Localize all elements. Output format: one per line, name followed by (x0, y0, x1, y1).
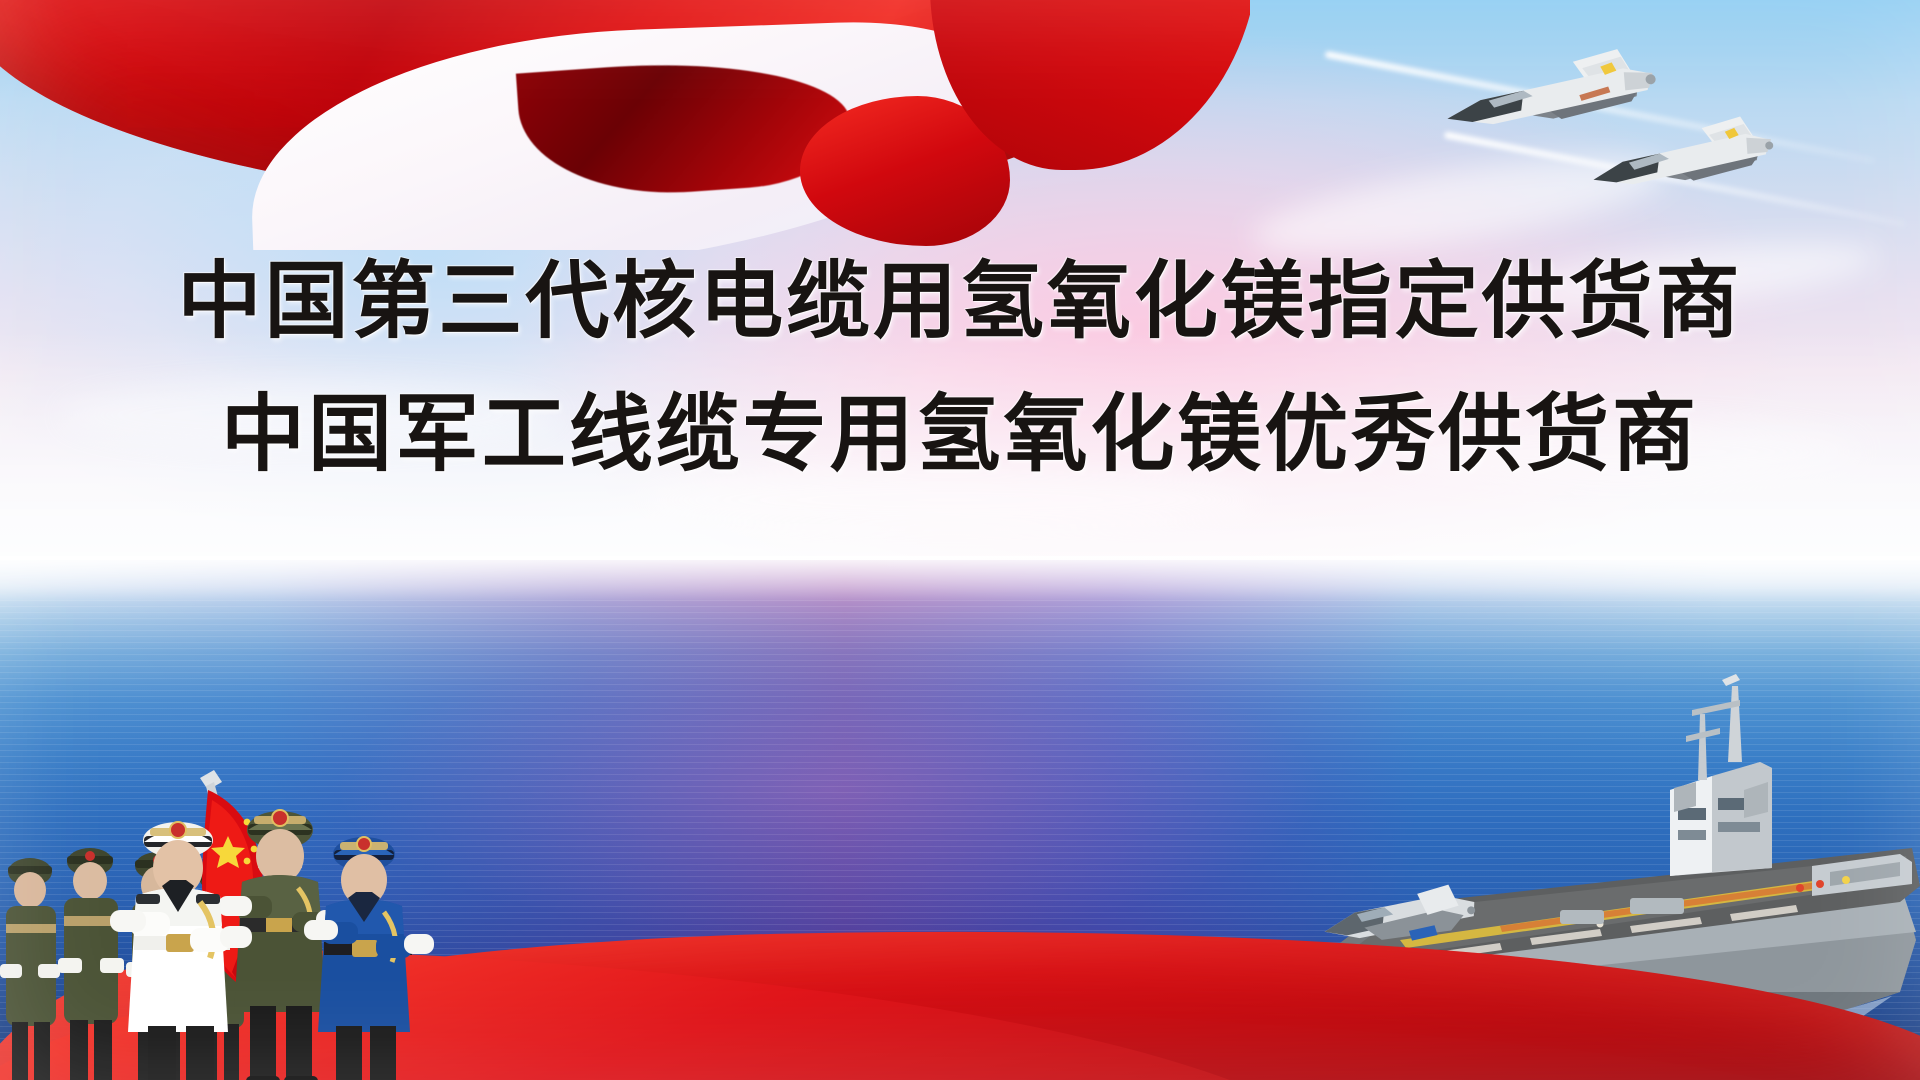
fighter-jet-wingman-icon (1580, 110, 1810, 214)
horizon-haze (0, 556, 1920, 602)
cloud-wisp (1380, 420, 1860, 484)
red-silk-flag (0, 0, 1250, 250)
cloud-wisp (60, 380, 560, 450)
cloud-wisp (640, 470, 1260, 530)
honor-guard-group (0, 650, 540, 1080)
promo-banner: 中国第三代核电缆用氢氧化镁指定供货商 中国军工线缆专用氢氧化镁优秀供货商 (0, 0, 1920, 1080)
